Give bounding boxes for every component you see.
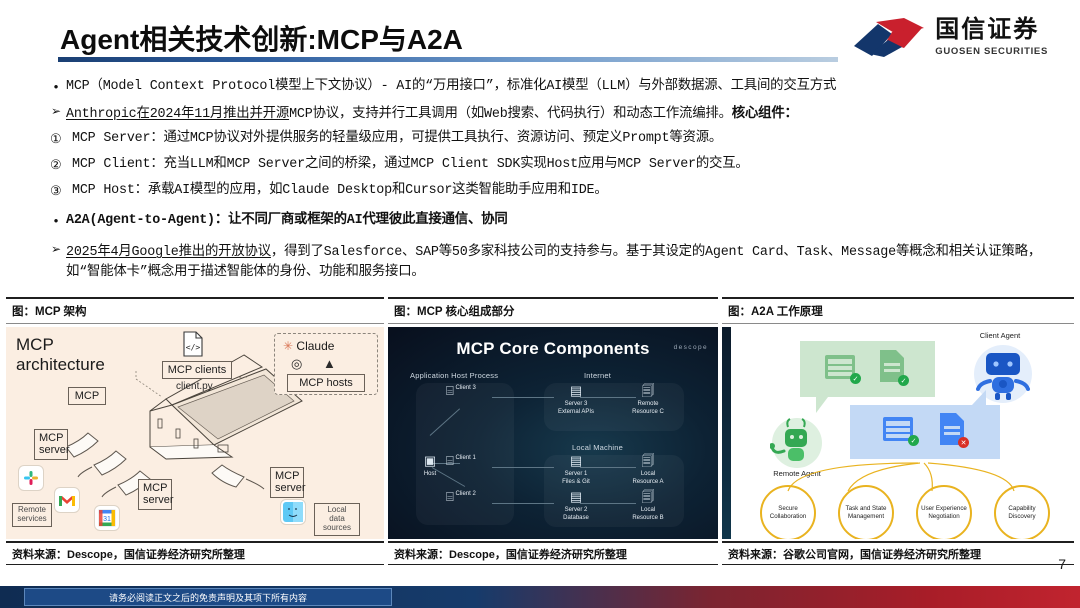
link-client2-server2 bbox=[492, 503, 554, 504]
panel-3-caption-top: 图：A2A 工作原理 bbox=[722, 297, 1074, 324]
openai-icon: ◎ bbox=[291, 356, 302, 372]
svg-text:</>: </> bbox=[186, 343, 201, 352]
client-icon: ⌸ bbox=[446, 453, 454, 469]
claude-label: Claude bbox=[296, 339, 334, 353]
gmail-icon bbox=[54, 487, 80, 513]
bullet-marker: ➢ bbox=[46, 242, 66, 258]
company-logo: 国信证券 GUOSEN SECURITIES bbox=[852, 14, 1048, 60]
blue-check-badge-icon: ✓ bbox=[908, 435, 919, 446]
body-content: • MCP（Model Context Protocol模型上下文协议）- AI… bbox=[0, 66, 1080, 294]
label-mcp-server-1: MCPserver bbox=[34, 429, 68, 460]
panel-1-caption-bottom: 资料来源：Descope，国信证券经济研究所整理 bbox=[6, 541, 384, 565]
code-file-icon: </> bbox=[182, 331, 204, 362]
logo-english-text: GUOSEN SECURITIES bbox=[935, 46, 1048, 57]
label-mcp-clients: MCP clients bbox=[162, 361, 232, 379]
bullet-text-bold: A2A(Agent-to-Agent)：让不同厂商或框架的AI代理彼此直接通信、… bbox=[66, 212, 1066, 230]
claude-asterisk-icon: ✳ bbox=[283, 339, 293, 353]
green-check-badge-2-icon: ✓ bbox=[898, 375, 909, 386]
bullet-line-4: ➢ 2025年4月Google推出的开放协议，得到了Salesforce、SAP… bbox=[46, 242, 1066, 281]
bullet-text: MCP（Model Context Protocol模型上下文协议）- AI的“… bbox=[66, 78, 1066, 96]
figure-panels: 图：MCP 架构 MCP architecture bbox=[0, 297, 1080, 565]
slack-icon bbox=[18, 465, 44, 491]
bullet-line-3: • A2A(Agent-to-Agent)：让不同厂商或框架的AI代理彼此直接通… bbox=[46, 212, 1066, 230]
label-client-py: client.py bbox=[176, 381, 213, 392]
numbered-text: MCP Host：承载AI模型的应用，如Claude Desktop和Curso… bbox=[72, 182, 1066, 200]
remote-agent-message-bubble: ✓ ✓ bbox=[800, 341, 935, 397]
section-label-app-host: Application Host Process bbox=[410, 371, 498, 380]
label-mcp-hosts: MCP hosts bbox=[287, 374, 365, 392]
logo-chinese-text: 国信证券 bbox=[935, 18, 1048, 42]
label-local-data-sources: Local datasources bbox=[314, 503, 360, 536]
panel-mcp-core-components: 图：MCP 核心组成部分 MCP Core Components descope… bbox=[388, 297, 718, 565]
numbered-text: MCP Server：通过MCP协议对外提供服务的轻量级应用，可提供工具执行、资… bbox=[72, 130, 1066, 148]
node-client-1: ⌸ Client 1 bbox=[446, 453, 500, 471]
page-header: Agent相关技术创新:MCP与A2A 国信证券 GUOSEN SECURITI… bbox=[0, 0, 1080, 64]
descope-watermark: descope bbox=[674, 344, 708, 351]
section-label-local-machine: Local Machine bbox=[572, 443, 623, 452]
label-mcp-server-2: MCPserver bbox=[138, 479, 172, 510]
server-icon: ▤ bbox=[548, 489, 604, 505]
link-client1-server1 bbox=[492, 467, 554, 468]
circle-capability-discovery: CapabilityDiscovery bbox=[994, 485, 1050, 539]
client-icon: ⌸ bbox=[446, 489, 454, 505]
node-local-resource-a: 🗐 LocalResource A bbox=[620, 453, 676, 486]
red-error-badge-icon: ✕ bbox=[958, 437, 969, 448]
node-client-3: ⌸ Client 3 bbox=[446, 383, 500, 401]
figure2-title: MCP Core Components bbox=[388, 339, 718, 359]
panel-3-figure: Client Agent bbox=[722, 327, 1074, 539]
bullet-marker: • bbox=[46, 212, 66, 229]
client-agent-label: Client Agent bbox=[960, 331, 1040, 340]
bullet-text-underlined: Anthropic在2024年11月推出并开源 bbox=[66, 107, 289, 122]
client-agent-message-bubble: ✓ ✕ bbox=[850, 405, 1000, 459]
label-mcp-server-3: MCPserver bbox=[270, 467, 304, 498]
node-server-1: ▤ Server 1Files & Git bbox=[548, 453, 604, 486]
label-mcp: MCP bbox=[68, 387, 106, 405]
panel-a2a-working-principle: 图：A2A 工作原理 Client Agent bbox=[722, 297, 1074, 565]
claude-row: ✳ Claude bbox=[283, 339, 334, 353]
list-number-marker: ① bbox=[46, 130, 72, 147]
server-icon: ▤ bbox=[548, 383, 604, 399]
label-remote-services: Remoteservices bbox=[12, 503, 52, 527]
green-check-badge-1-icon: ✓ bbox=[850, 373, 861, 384]
numbered-line-2: ② MCP Client：充当LLM和MCP Server之间的桥梁，通过MCP… bbox=[46, 156, 1066, 174]
list-number-marker: ③ bbox=[46, 182, 72, 199]
node-host: ▣ Host bbox=[410, 453, 450, 479]
page-number: 7 bbox=[1058, 556, 1066, 572]
svg-text:31: 31 bbox=[103, 516, 111, 523]
numbered-line-1: ① MCP Server：通过MCP协议对外提供服务的轻量级应用，可提供工具执行… bbox=[46, 130, 1066, 148]
bullet-text: MCP协议，支持并行工具调用（如Web搜索、代码执行）和动态工作流编排。 bbox=[289, 107, 732, 122]
bullet-line-2: ➢ Anthropic在2024年11月推出并开源MCP协议，支持并行工具调用（… bbox=[46, 104, 1066, 124]
server-icon: ▤ bbox=[548, 453, 604, 469]
panel-mcp-architecture: 图：MCP 架构 MCP architecture bbox=[6, 297, 384, 565]
dashed-connector-icon: -- bbox=[238, 371, 249, 383]
panel-1-figure: MCP architecture bbox=[6, 327, 384, 539]
finder-icon bbox=[280, 499, 306, 525]
mcp-hosts-group: ✳ Claude ◎ ▲ MCP hosts bbox=[274, 333, 378, 395]
bullet-line-1: • MCP（Model Context Protocol模型上下文协议）- AI… bbox=[46, 78, 1066, 96]
guosen-logo-mark-icon bbox=[852, 16, 926, 58]
node-server-3: ▤ Server 3External APIs bbox=[548, 383, 604, 416]
circle-task-state-management: Task and StateManagement bbox=[838, 485, 894, 539]
resource-icon: 🗐 bbox=[620, 489, 676, 505]
node-local-resource-b: 🗐 LocalResource B bbox=[620, 489, 676, 522]
page-footer: 请务必阅读正文之后的免责声明及其项下所有内容 bbox=[0, 586, 1080, 608]
resource-icon: 🗐 bbox=[620, 383, 676, 399]
panel-2-figure: MCP Core Components descope Application … bbox=[388, 327, 718, 539]
page-title: Agent相关技术创新:MCP与A2A bbox=[60, 18, 463, 58]
google-calendar-icon: 31 bbox=[94, 505, 120, 531]
circle-user-experience-negotiation: User ExperienceNegotiation bbox=[916, 485, 972, 539]
node-server-2: ▤ Server 2Database bbox=[548, 489, 604, 522]
bullet-marker: • bbox=[46, 78, 66, 95]
bullet-marker: ➢ bbox=[46, 104, 66, 120]
resource-icon: 🗐 bbox=[620, 453, 676, 469]
link-client3-server3 bbox=[492, 397, 554, 398]
list-number-marker: ② bbox=[46, 156, 72, 173]
section-label-internet: Internet bbox=[584, 371, 611, 380]
node-remote-resource-c: 🗐 RemoteResource C bbox=[620, 383, 676, 416]
bullet-text-bold: 核心组件： bbox=[732, 107, 798, 122]
chip-icon: ▣ bbox=[410, 453, 450, 469]
panel-2-caption-top: 图：MCP 核心组成部分 bbox=[388, 297, 718, 324]
bullet-text-underlined: 2025年4月Google推出的开放协议 bbox=[66, 245, 271, 260]
node-client-2: ⌸ Client 2 bbox=[446, 489, 500, 507]
numbered-line-3: ③ MCP Host：承载AI模型的应用，如Claude Desktop和Cur… bbox=[46, 182, 1066, 200]
circle-secure-collaboration: SecureCollaboration bbox=[760, 485, 816, 539]
footer-disclaimer: 请务必阅读正文之后的免责声明及其项下所有内容 bbox=[24, 588, 392, 606]
client-icon: ⌸ bbox=[446, 383, 454, 399]
panel-1-caption-top: 图：MCP 架构 bbox=[6, 297, 384, 324]
panel-2-caption-bottom: 资料来源：Descope，国信证券经济研究所整理 bbox=[388, 541, 718, 565]
ollama-icon: ▲ bbox=[323, 356, 336, 371]
title-underline-rule bbox=[58, 57, 838, 62]
panel-3-caption-bottom: 资料来源：谷歌公司官网，国信证券经济研究所整理 bbox=[722, 541, 1074, 565]
numbered-text: MCP Client：充当LLM和MCP Server之间的桥梁，通过MCP C… bbox=[72, 156, 1066, 174]
